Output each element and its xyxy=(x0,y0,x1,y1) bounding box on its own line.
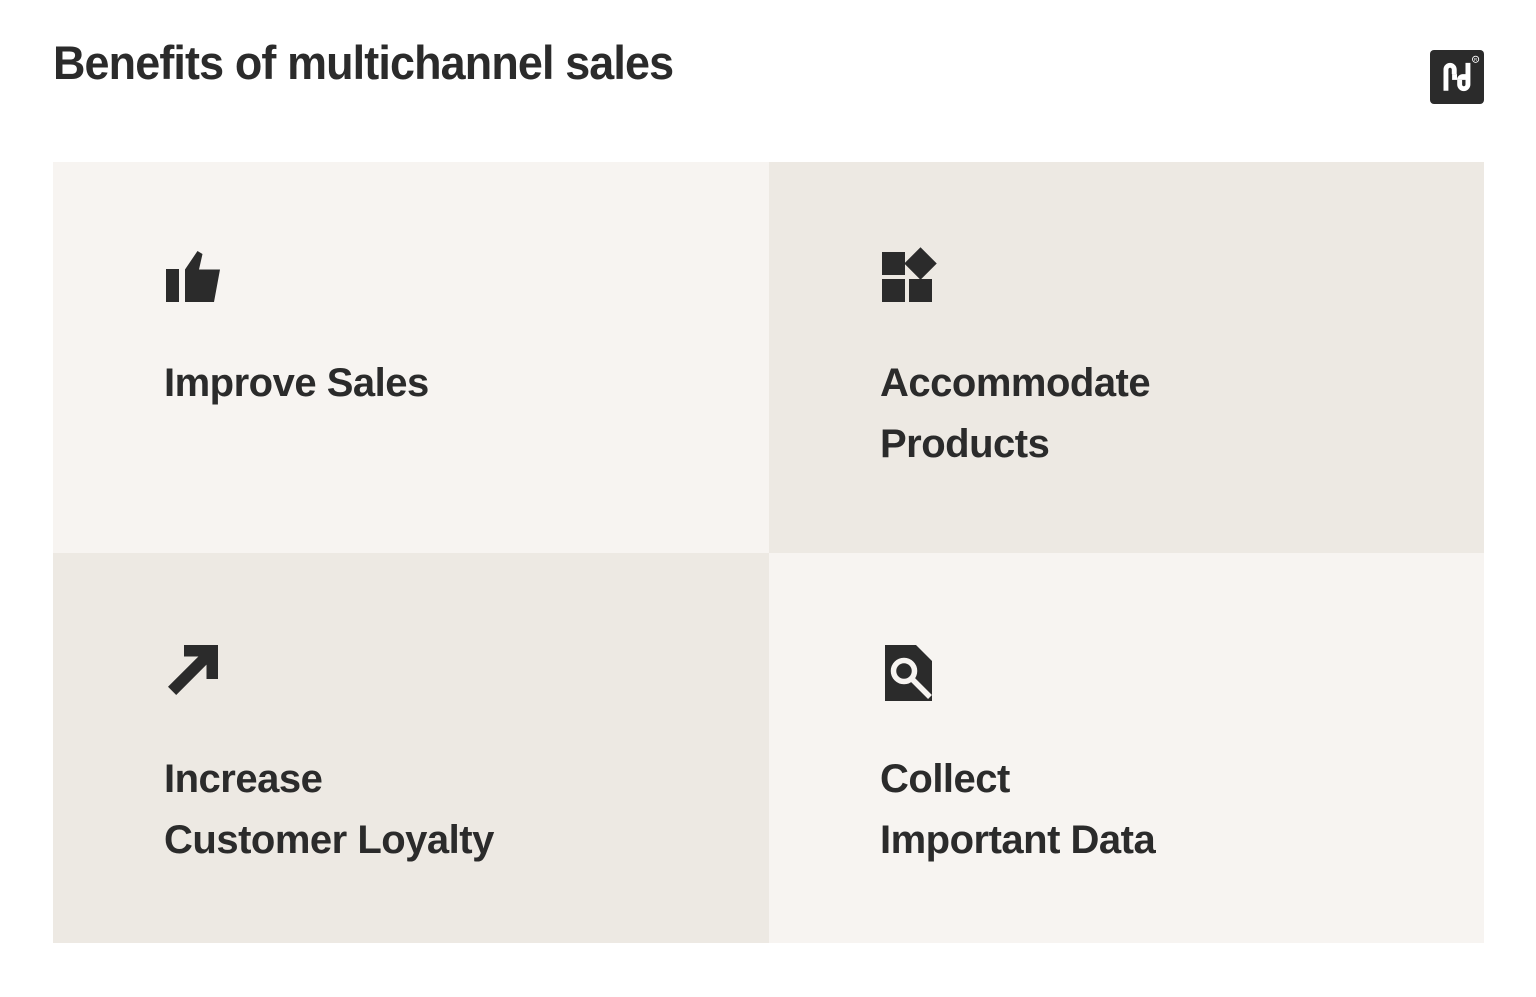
benefit-card-label: Accommodate Products xyxy=(880,353,1340,475)
benefit-card-improve-sales[interactable]: Improve Sales xyxy=(53,162,769,553)
arrow-up-right-icon xyxy=(164,641,769,707)
pandadoc-logo: R xyxy=(1430,50,1484,104)
benefit-card-collect-important-data[interactable]: Collect Important Data xyxy=(769,553,1484,943)
benefit-card-accommodate-products[interactable]: Accommodate Products xyxy=(769,162,1484,553)
benefit-card-label: Improve Sales xyxy=(164,353,624,414)
benefit-card-label: Collect Important Data xyxy=(880,749,1340,871)
document-search-icon xyxy=(880,641,1484,707)
page-title: Benefits of multichannel sales xyxy=(53,38,673,87)
benefit-card-label: Increase Customer Loyalty xyxy=(164,749,624,871)
svg-text:R: R xyxy=(1474,57,1477,62)
infographic-page: Benefits of multichannel sales R xyxy=(0,0,1536,997)
squares-diamond-grid-icon xyxy=(880,245,1484,311)
thumbs-up-icon xyxy=(164,245,769,311)
benefit-card-increase-customer-loyalty[interactable]: Increase Customer Loyalty xyxy=(53,553,769,943)
page-header: Benefits of multichannel sales R xyxy=(53,38,1484,124)
benefits-grid: Improve Sales Accommodate Products In xyxy=(53,162,1484,943)
